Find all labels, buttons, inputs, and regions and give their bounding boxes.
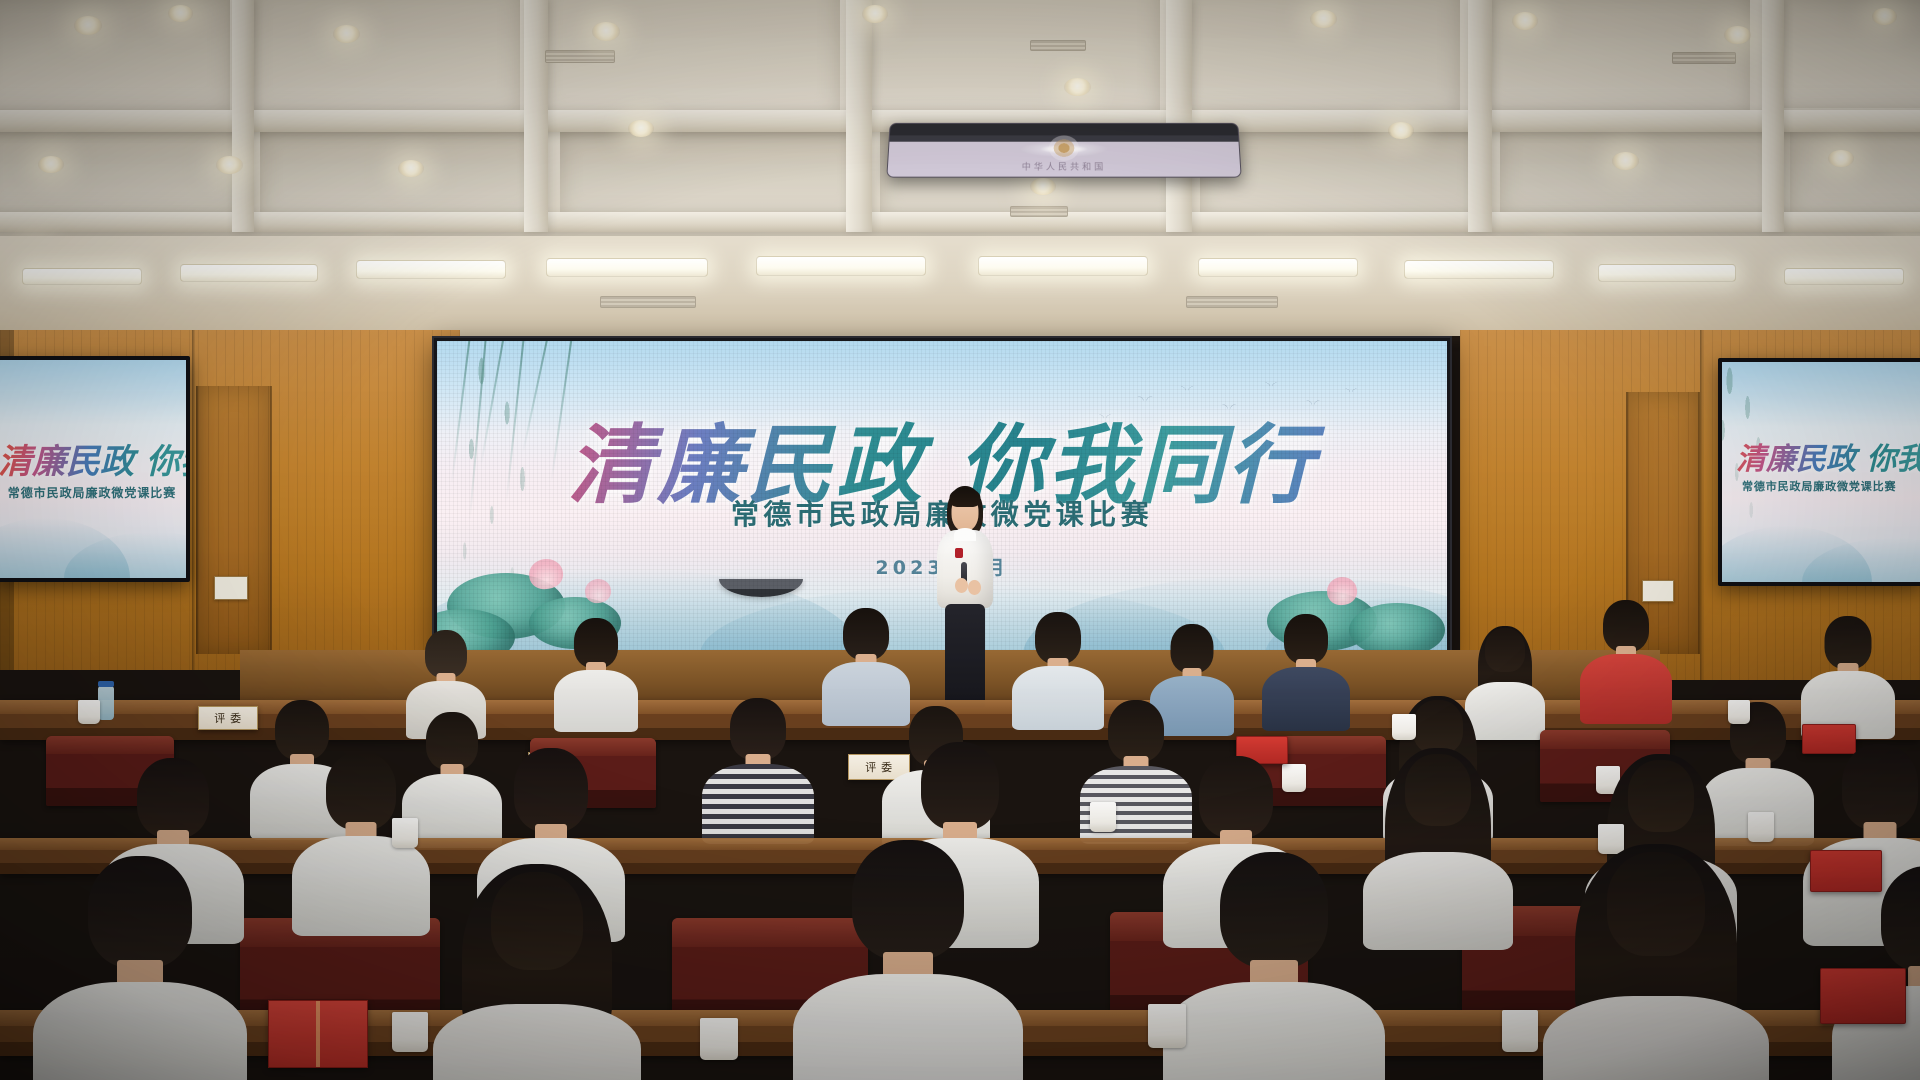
door-left[interactable] — [196, 386, 272, 654]
troffer-light — [1404, 260, 1554, 279]
ceiling-beam — [0, 212, 1920, 232]
ceiling-downlight — [1064, 78, 1091, 96]
paper-cup[interactable] — [1392, 714, 1416, 740]
troffer-light — [1784, 268, 1904, 285]
troffer-light — [546, 258, 708, 277]
person-torso — [554, 670, 638, 732]
ceiling-coffer — [1770, 0, 1920, 108]
ceiling-coffer — [0, 120, 240, 215]
ceiling-beam — [1762, 0, 1784, 232]
ceiling-coffer — [860, 0, 1160, 118]
ceiling-downlight — [862, 5, 888, 23]
chair-backrest — [1540, 730, 1670, 749]
ceiling-beam — [232, 0, 254, 232]
audience-member — [404, 630, 488, 722]
side-display-left: 清廉民政 你我同行 常德市民政局廉政微党课比赛 — [0, 356, 190, 582]
person-torso — [1580, 654, 1672, 724]
person-head — [1171, 624, 1214, 673]
bottle-cap — [98, 681, 114, 687]
person-head — [1628, 760, 1694, 832]
audience-member — [820, 608, 912, 712]
paper-cup[interactable] — [1748, 812, 1774, 842]
paper-cup[interactable] — [700, 1018, 738, 1060]
person-head — [137, 758, 209, 838]
person-head — [514, 748, 588, 832]
ceiling-downlight — [74, 16, 102, 35]
person-torso — [1543, 996, 1769, 1080]
audience-member — [1578, 600, 1674, 716]
person-head — [843, 608, 889, 660]
ceiling-downlight — [1828, 150, 1854, 167]
ceiling-coffer — [0, 0, 230, 110]
person-head — [326, 752, 396, 830]
person-torso — [1262, 667, 1350, 731]
person-torso-striped — [702, 764, 814, 844]
audience-member — [552, 618, 640, 714]
person-head — [88, 856, 192, 968]
ceiling-coffer — [1200, 126, 1480, 218]
person-torso — [33, 982, 247, 1080]
person-head — [1108, 700, 1164, 762]
ceiling-downlight — [1872, 8, 1897, 25]
paper-cup[interactable] — [392, 818, 418, 848]
audience-member — [430, 864, 644, 1080]
audience-member — [1160, 852, 1388, 1080]
ceiling-beam — [1468, 0, 1492, 232]
ceiling-coffer — [250, 0, 520, 114]
door-sign-right — [1642, 580, 1674, 602]
person-head — [425, 630, 467, 678]
side-display-title: 清廉民政 你我同行 — [0, 434, 186, 483]
side-display-title: 清廉民政 你我同行 — [1722, 434, 1920, 478]
person-head — [1485, 628, 1525, 672]
troffer-light — [1198, 258, 1358, 277]
ceiling-coffer — [560, 130, 860, 218]
audience-member — [1540, 844, 1772, 1080]
person-head — [921, 742, 999, 830]
side-display-subtitle: 常德市民政局廉政微党课比赛 — [1722, 478, 1920, 494]
person-head — [1220, 852, 1328, 968]
ceiling-projector-sign: 中华人民共和国 — [886, 123, 1241, 178]
person-head — [491, 872, 583, 970]
ceiling-downlight — [1724, 26, 1751, 44]
audience-member — [790, 840, 1026, 1080]
air-vent — [545, 50, 615, 63]
troffer-light — [356, 260, 506, 279]
red-placard — [1820, 968, 1906, 1024]
person-torso — [292, 836, 430, 936]
ceiling-downlight — [38, 156, 64, 173]
side-display-right: 清廉民政 你我同行 常德市民政局廉政微党课比赛 — [1718, 358, 1920, 586]
person-head — [1405, 754, 1471, 826]
water-bottle[interactable] — [98, 686, 114, 720]
presenter-trousers — [945, 604, 985, 708]
troffer-light — [756, 256, 926, 276]
bird-icon — [1181, 386, 1193, 391]
ceiling-beam — [846, 0, 872, 232]
ceiling-beam — [524, 0, 548, 232]
air-vent — [600, 296, 696, 308]
side-display-subtitle: 常德市民政局廉政微党课比赛 — [0, 484, 186, 501]
audience-member — [1260, 614, 1352, 718]
chair-backrest — [46, 736, 174, 754]
paper-cup[interactable] — [392, 1012, 428, 1052]
air-vent — [1186, 296, 1278, 308]
person-head — [1413, 700, 1463, 754]
person-head — [1199, 756, 1273, 838]
ceiling-downlight — [1612, 152, 1639, 170]
ceiling-downlight — [168, 5, 193, 22]
ceiling-downlight — [1310, 10, 1337, 28]
person-head — [1825, 616, 1872, 669]
presenter-collar — [954, 528, 976, 541]
lotus-leaf — [1349, 603, 1445, 657]
air-vent — [1010, 206, 1068, 217]
person-head — [1607, 852, 1705, 956]
presenter-badge — [955, 548, 963, 558]
troffer-light — [1598, 264, 1736, 282]
bird-icon — [1346, 388, 1357, 392]
audience-member — [30, 856, 250, 1080]
paper-cup[interactable] — [1090, 802, 1116, 832]
ceiling-downlight — [628, 120, 654, 137]
wall-seam — [192, 330, 195, 670]
ceiling-soffit — [0, 236, 1920, 336]
bird-icon — [1265, 382, 1276, 386]
person-torso — [793, 974, 1023, 1080]
gift-box[interactable] — [268, 1000, 368, 1068]
presenter-hair-top — [950, 488, 981, 507]
person-head — [1603, 600, 1649, 652]
presenter-hand — [968, 580, 981, 595]
door-sign-left — [214, 576, 248, 600]
ceiling-coffer — [1790, 118, 1920, 216]
troffer-light — [180, 264, 318, 282]
ceiling-beam — [1166, 0, 1192, 232]
ceiling-downlight — [1030, 178, 1056, 195]
ceiling-downlight — [398, 160, 424, 177]
ceiling-coffer — [1500, 120, 1800, 215]
paper-cup[interactable] — [1728, 700, 1750, 724]
person-head — [426, 712, 478, 770]
person-head — [730, 698, 786, 760]
ceiling-downlight — [216, 156, 243, 174]
audience-member — [700, 698, 816, 832]
person-head — [1035, 612, 1081, 664]
national-emblem-icon — [1049, 135, 1079, 160]
troffer-light — [22, 268, 142, 285]
ceiling-downlight — [1388, 122, 1414, 139]
air-vent — [1672, 52, 1736, 64]
person-head — [1881, 866, 1920, 972]
person-head — [574, 618, 618, 668]
ceiling-downlight — [1512, 12, 1538, 30]
person-head — [1842, 744, 1918, 830]
person-head — [852, 840, 964, 960]
paper-cup[interactable] — [1502, 1010, 1538, 1052]
person-torso — [1163, 982, 1385, 1080]
air-vent — [1030, 40, 1086, 51]
person-head — [1284, 614, 1328, 664]
person-torso — [433, 1004, 641, 1080]
paper-cup[interactable] — [78, 700, 100, 724]
presenter-hand — [955, 578, 968, 593]
presenter — [930, 486, 1000, 708]
ceiling-downlight — [333, 25, 360, 43]
wall-seam — [1700, 330, 1703, 680]
conference-hall-photo: 中华人民共和国 清廉民政 你我同行 常德市民政局廉政微党课比赛 清廉 — [0, 0, 1920, 1080]
ceiling-sign-text: 中华人民共和国 — [888, 160, 1241, 173]
paper-cup[interactable] — [1148, 1004, 1186, 1048]
person-head — [275, 700, 329, 760]
ceiling-downlight — [592, 22, 620, 41]
troffer-light — [978, 256, 1148, 276]
